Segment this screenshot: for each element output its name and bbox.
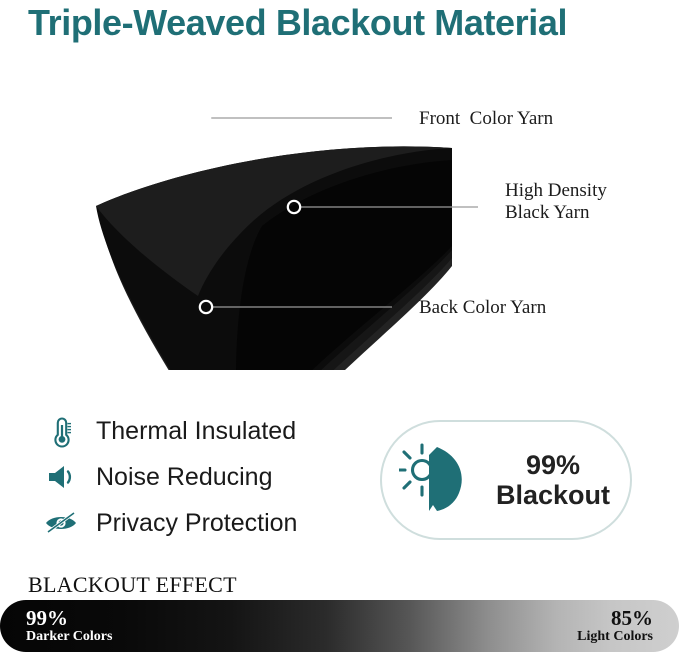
gradient-right-percent: 85% bbox=[577, 607, 653, 629]
thermometer-icon bbox=[42, 411, 82, 451]
eye-slash-icon bbox=[42, 503, 82, 543]
callout-label-back: Back Color Yarn bbox=[419, 297, 546, 319]
gradient-left-caption: Darker Colors bbox=[26, 629, 112, 646]
gradient-left-percent: 99% bbox=[26, 607, 112, 629]
feature-label-thermal: Thermal Insulated bbox=[96, 417, 296, 446]
page-title: Triple-Weaved Blackout Material bbox=[28, 2, 668, 44]
feature-item-thermal: Thermal Insulated bbox=[42, 408, 372, 454]
callout-label-front: Front Color Yarn bbox=[419, 108, 553, 130]
callout-label-high-density: High Density Black Yarn bbox=[505, 180, 607, 225]
feature-item-privacy: Privacy Protection bbox=[42, 500, 372, 546]
feature-list: Thermal Insulated Noise Reducing Privacy… bbox=[42, 408, 372, 546]
speaker-icon bbox=[42, 457, 82, 497]
feature-label-noise: Noise Reducing bbox=[96, 463, 273, 492]
badge-caption: Blackout bbox=[496, 480, 610, 510]
badge-text: 99% Blackout bbox=[482, 450, 630, 510]
blackout-effect-gradient-bar: 99% Darker Colors 85% Light Colors bbox=[0, 600, 679, 652]
gradient-right-caption: Light Colors bbox=[577, 629, 653, 646]
marker-dot-front bbox=[198, 112, 210, 124]
gradient-bar-right-label: 85% Light Colors bbox=[577, 607, 653, 646]
fabric-diagram: Front Color Yarn High Density Black Yarn… bbox=[0, 70, 679, 370]
gradient-bar-left-label: 99% Darker Colors bbox=[26, 607, 112, 646]
feature-item-noise: Noise Reducing bbox=[42, 454, 372, 500]
blackout-badge: 99% Blackout bbox=[380, 420, 632, 540]
feature-label-privacy: Privacy Protection bbox=[96, 509, 297, 538]
blackout-effect-heading: BLACKOUT EFFECT bbox=[28, 572, 237, 598]
sun-curtain-icon bbox=[396, 440, 482, 520]
badge-percent: 99% bbox=[526, 450, 580, 480]
